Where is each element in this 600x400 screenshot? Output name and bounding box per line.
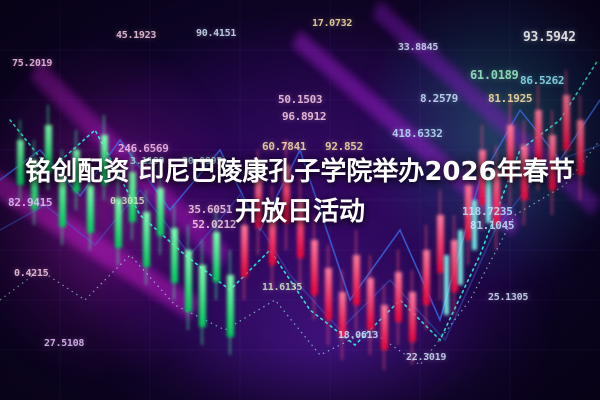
headline-text: 铭创配资 印尼巴陵康孔子学院举办2026年春节开放日活动 [18,152,582,232]
stock-chart-image: 93.594261.018986.52628.257981.1925418.63… [0,0,600,400]
headline-overlay: 铭创配资 印尼巴陵康孔子学院举办2026年春节开放日活动 [0,152,600,232]
